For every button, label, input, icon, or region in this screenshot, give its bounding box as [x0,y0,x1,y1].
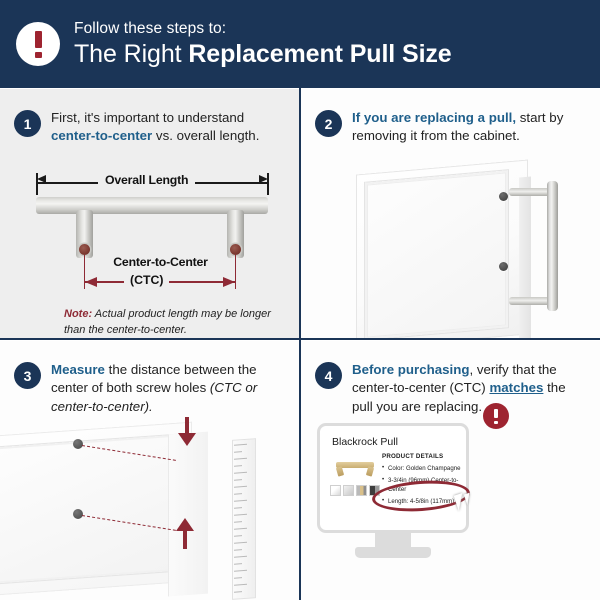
step-1-note: Note: Actual product length may be longe… [64,307,279,338]
ruler-tick [234,486,247,488]
note-text: Actual product length may be longer than… [64,308,271,336]
detail-color: Color: Golden Champagne [382,465,466,473]
arrow-down-icon [178,433,196,446]
step-1-lead: First, it's important to understand [51,110,244,125]
product-details-heading: PRODUCT DETAILS [382,453,443,460]
horizontal-divider [0,338,600,340]
step-number-2: 2 [315,110,342,137]
step-panel-1: 1 First, it's important to understand ce… [0,89,299,338]
thumbnail-3[interactable] [356,485,367,496]
ruler-tick [234,535,242,537]
ruler-tick [234,563,242,565]
exclamation-icon [16,22,60,66]
step-number-3: 3 [14,362,41,389]
step-4-bold: Before purchasing [352,362,469,377]
ruler-tick [234,479,242,481]
ruler-tick [234,591,242,593]
ruler-tick [234,528,247,530]
ruler-tick [234,521,242,523]
arrow-left-icon [37,175,46,183]
bar-pull-diagram: Overall Length Center-to-Center (CTC) [28,177,278,302]
pull-post-top-2 [509,188,551,196]
cabinet-stile-3 [168,432,208,597]
step-4-copy: Before purchasing, verify that the cente… [352,361,584,416]
step-panel-2: 2 If you are replacing a pull, start by … [301,89,600,338]
step-4-head: 4 Before purchasing, verify that the cen… [301,341,600,416]
ruler-tick [234,542,247,544]
header-text-block: Follow these steps to: The Right Replace… [74,20,452,67]
step-2-head: 2 If you are replacing a pull, start by … [301,89,600,146]
cabinet-door-illustration-2 [356,159,528,338]
product-pull-leg-right [366,466,374,476]
header-banner: Follow these steps to: The Right Replace… [0,0,600,88]
pull-post-bottom-2 [509,297,551,305]
ruler-tick [234,577,242,579]
ctc-arrow-left-icon [85,277,97,287]
ctc-label: Center-to-Center [83,255,238,269]
thumbnail-1[interactable] [330,485,341,496]
screw-hole-bottom-2 [499,262,508,271]
monitor-base [355,547,431,558]
pull-post-right [227,210,244,258]
ruler-tick [234,500,247,502]
step-3-head: 3 Measure the distance between the cente… [0,341,299,416]
pull-post-left [76,210,93,258]
page-title: The Right Replacement Pull Size [74,40,452,68]
step-panel-4: 4 Before purchasing, verify that the cen… [301,341,600,600]
step-3-bold: Measure [51,362,105,377]
ruler-tick [234,584,247,586]
ruler-tick [234,514,247,516]
header-kicker: Follow these steps to: [74,20,452,37]
ruler-tick [234,444,247,446]
ruler-tick [234,570,247,572]
ruler-tick [234,465,242,467]
title-light: The Right [74,40,188,68]
ruler-tick [234,493,242,495]
matches-link[interactable]: matches [489,380,543,395]
title-bold: Replacement Pull Size [188,40,451,68]
overall-length-label: Overall Length [98,173,195,187]
ruler-icon [232,438,256,600]
product-image [332,458,378,480]
exclamation-icon-alert [483,403,509,429]
note-label: Note: [64,308,92,320]
step-number-4: 4 [315,362,342,389]
infographic-root: Follow these steps to: The Right Replace… [0,0,600,600]
step-1-bold: center-to-center [51,128,152,143]
ruler-tick [234,458,247,460]
monitor-screen: Blackrock Pull PRODUCT DETAILS Color: Go… [317,423,469,533]
product-title: Blackrock Pull [332,436,398,448]
measure-arrow-stem-bottom [183,531,187,549]
ruler-tick [234,556,247,558]
cabinet-edge-2 [519,176,531,338]
step-1-copy: First, it's important to understand cent… [51,109,283,146]
ruler-tick [234,472,247,474]
pull-bar-2 [547,181,558,311]
arrow-right-icon [259,175,268,183]
ruler-tick [234,507,242,509]
step-2-bold: If you are replacing a pull, [352,110,516,125]
ctc-arrow-right-icon [223,277,235,287]
step-panel-3: 3 Measure the distance between the cente… [0,341,299,600]
ruler-tick [234,451,242,453]
step-1-head: 1 First, it's important to understand ce… [0,89,299,146]
step-2-copy: If you are replacing a pull, start by re… [352,109,584,146]
screw-hole-top-2 [499,192,508,201]
arrow-up-icon [176,518,194,531]
step-1-tail: vs. overall length. [152,128,259,143]
thumbnail-2[interactable] [343,485,354,496]
ctc-abbr-label: (CTC) [124,273,169,287]
step-3-copy: Measure the distance between the center … [51,361,283,416]
ruler-tick [234,549,242,551]
step-number-1: 1 [14,110,41,137]
